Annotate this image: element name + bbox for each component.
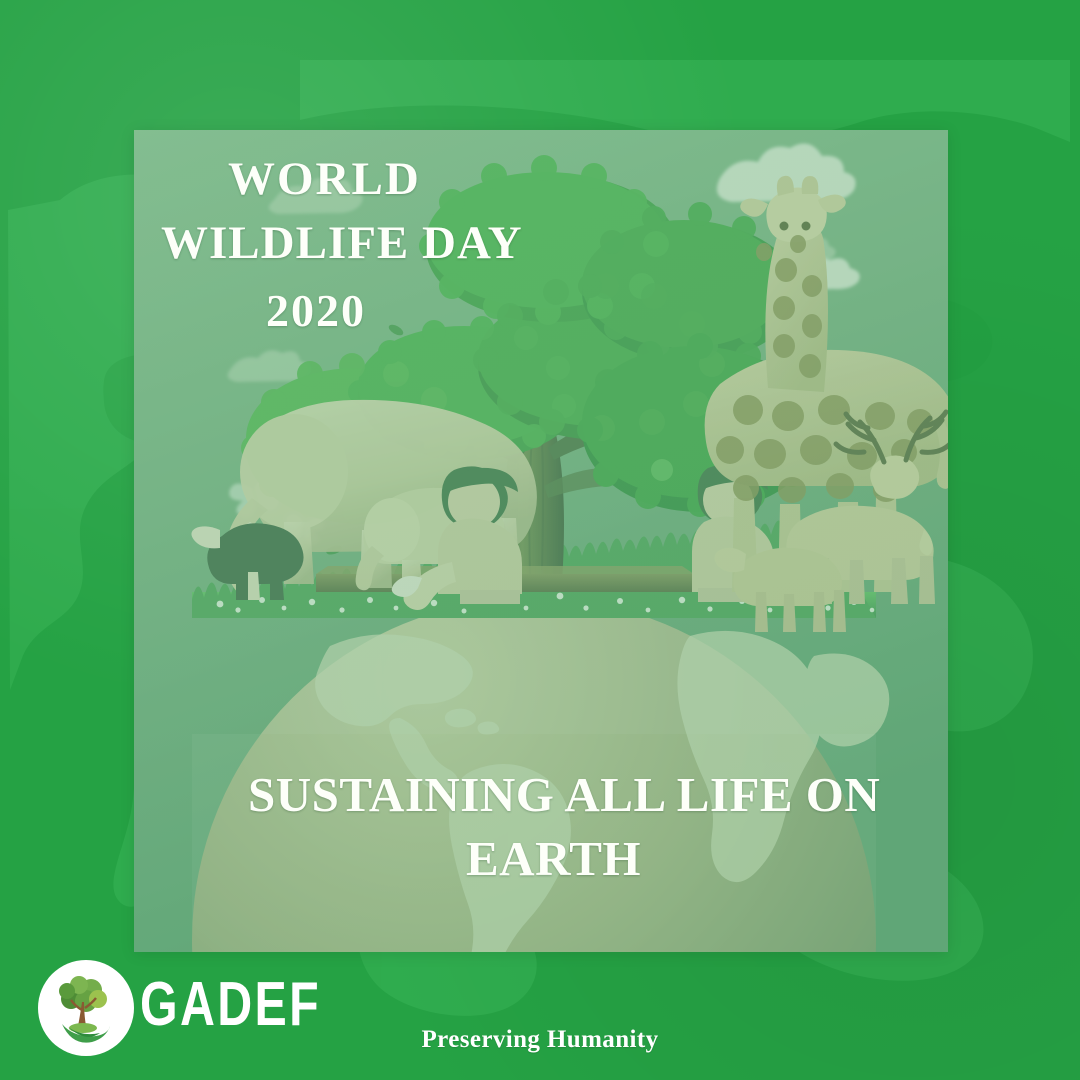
headline-year: 2020: [266, 284, 366, 337]
headline-line-1: WORLD: [228, 152, 421, 206]
brand-tagline: Preserving Humanity: [0, 1026, 1080, 1054]
theme-line-2: EARTH: [466, 830, 641, 887]
headline-line-2: WILDLIFE DAY: [161, 216, 523, 270]
poster-canvas: WORLD WILDLIFE DAY 2020 SUSTAINING ALL L…: [0, 0, 1080, 1080]
theme-line-1: SUSTAINING ALL LIFE ON: [248, 766, 880, 823]
footer-bar: GADEF: [0, 952, 1080, 1080]
